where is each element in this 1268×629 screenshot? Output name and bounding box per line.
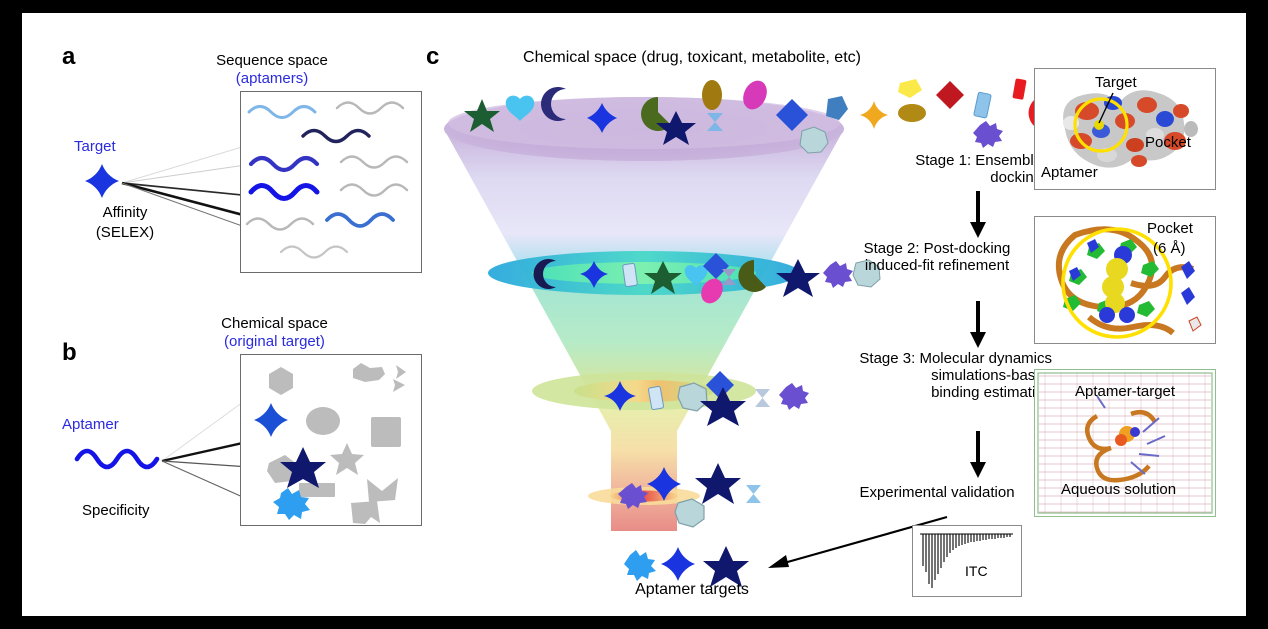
arrow-3-icon xyxy=(967,431,989,479)
pocket-image: Pocket (6 Å) xyxy=(1034,216,1216,344)
pocket-label: Pocket xyxy=(1147,221,1193,238)
final-target-shapes xyxy=(622,543,762,583)
panel-b-chemical-space-box xyxy=(240,354,422,526)
itc-plot: ITC xyxy=(912,525,1022,597)
arrow-1-icon xyxy=(967,191,989,239)
panel-b-shapes xyxy=(241,355,421,525)
pocket-radius-label: (6 Å) xyxy=(1153,241,1186,258)
md-image: Aptamer-target Aqueous solution xyxy=(1034,369,1216,517)
panel-c-bottom-title: Aptamer targets xyxy=(582,581,802,599)
stage-2-label: Stage 2: Post-docking induced-fit refine… xyxy=(822,241,1052,275)
itc-plot-svg xyxy=(913,526,1021,596)
arrow-2-icon xyxy=(967,301,989,349)
aptamer-target-label: Aptamer-target xyxy=(1075,384,1175,401)
pocket-label: Pocket xyxy=(1145,135,1191,152)
aptamer-label: Aptamer xyxy=(1041,165,1098,182)
panel-a-sequence-space-box xyxy=(240,91,422,273)
figure-canvas: a Sequence space (aptamers) Target Affin… xyxy=(22,13,1246,616)
top-rim-shapes xyxy=(462,63,1082,143)
itc-label: ITC xyxy=(965,564,988,580)
stage-1-label: Stage 1: Ensemble docking xyxy=(832,153,1042,187)
target-label: Target xyxy=(1095,75,1137,92)
panel-c-letter: c xyxy=(426,43,439,71)
aqueous-solution-label: Aqueous solution xyxy=(1061,482,1176,499)
stage-3-label: Stage 3: Molecular dynamics simulations-… xyxy=(797,351,1052,401)
panel-a-waves xyxy=(241,92,421,272)
docking-image: Target Pocket Aptamer xyxy=(1034,68,1216,190)
validation-label: Experimental validation xyxy=(817,485,1057,502)
